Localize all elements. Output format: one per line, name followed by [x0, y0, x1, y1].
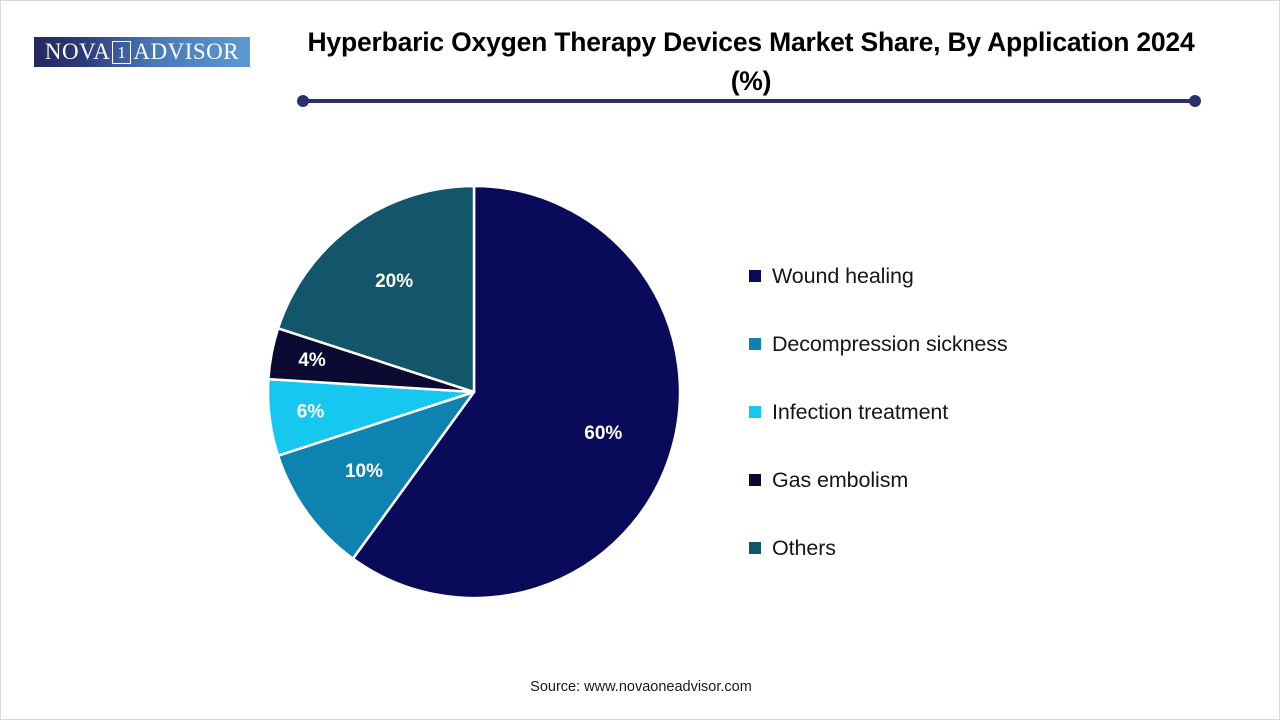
legend-color-swatch — [749, 338, 761, 350]
pie-slice-label: 6% — [297, 402, 325, 423]
logo-badge: 1 — [112, 41, 131, 64]
logo-prefix: NOVA — [45, 39, 110, 65]
divider-line — [302, 99, 1196, 103]
legend-item[interactable]: Wound healing — [749, 242, 1169, 310]
legend-item[interactable]: Gas embolism — [749, 446, 1169, 514]
legend-item-label: Decompression sickness — [772, 332, 1008, 357]
divider-dot-right — [1189, 95, 1201, 107]
legend-item-label: Wound healing — [772, 264, 914, 289]
pie-chart: 60%10%6%4%20% — [263, 181, 685, 603]
pie-slice-label: 60% — [584, 423, 622, 444]
legend-item-label: Infection treatment — [772, 400, 948, 425]
legend-color-swatch — [749, 270, 761, 282]
title-divider — [297, 95, 1201, 107]
chart-canvas: NOVA1ADVISOR Hyperbaric Oxygen Therapy D… — [0, 0, 1280, 720]
legend-item[interactable]: Decompression sickness — [749, 310, 1169, 378]
chart-legend: Wound healingDecompression sicknessInfec… — [749, 242, 1169, 582]
source-caption: Source: www.novaoneadvisor.com — [1, 679, 1280, 695]
pie-chart-svg: 60%10%6%4%20% — [263, 181, 685, 603]
legend-item-label: Others — [772, 536, 836, 561]
legend-color-swatch — [749, 542, 761, 554]
nova-one-advisor-logo[interactable]: NOVA1ADVISOR — [34, 37, 250, 67]
logo-wordmark: NOVA1ADVISOR — [45, 39, 239, 65]
pie-slice-label: 20% — [375, 271, 413, 292]
pie-slice-label: 10% — [345, 461, 383, 482]
legend-item-label: Gas embolism — [772, 468, 908, 493]
logo-suffix: ADVISOR — [133, 39, 239, 65]
page-title: Hyperbaric Oxygen Therapy Devices Market… — [301, 23, 1201, 101]
pie-slice-group — [268, 186, 680, 598]
legend-color-swatch — [749, 474, 761, 486]
legend-color-swatch — [749, 406, 761, 418]
legend-item[interactable]: Infection treatment — [749, 378, 1169, 446]
pie-slice-label: 4% — [298, 350, 326, 371]
legend-item[interactable]: Others — [749, 514, 1169, 582]
